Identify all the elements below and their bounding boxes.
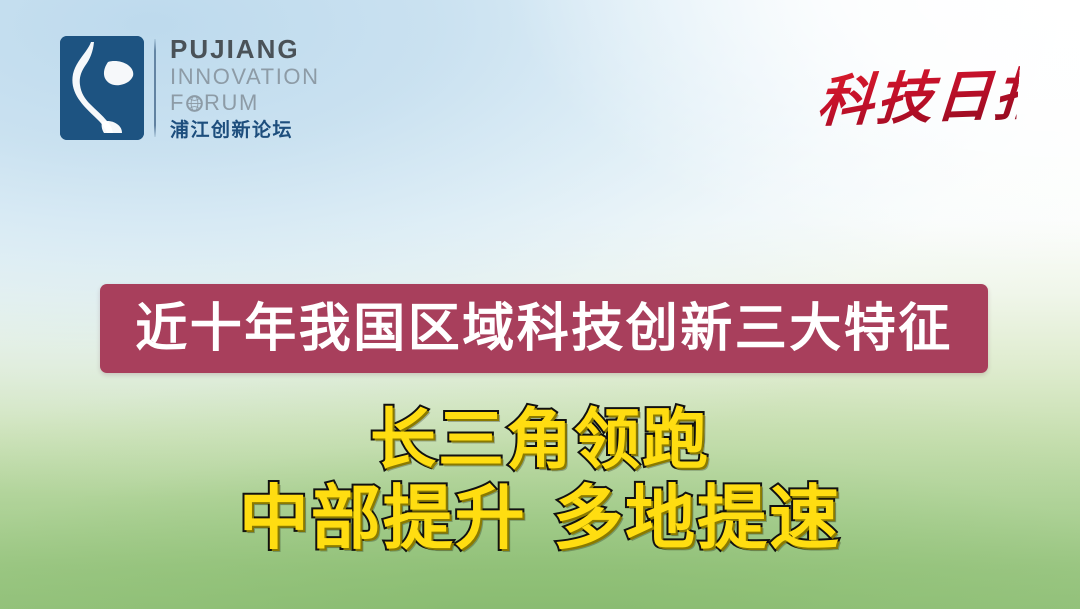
logo-line-innovation: INNOVATION [170, 64, 320, 89]
pujiang-logo-wordmark: PUJIANG INNOVATION F RUM 浦江创新论坛 [170, 36, 320, 140]
logo-line-pujiang: PUJIANG [170, 36, 320, 64]
headline-banner: 近十年我国区域科技创新三大特征 [100, 284, 988, 373]
logo-forum-suffix: RUM [204, 90, 259, 115]
logo-forum-prefix: F [170, 90, 185, 115]
logo-line-chinese: 浦江创新论坛 [170, 119, 320, 142]
logo-line-forum: F RUM [170, 90, 320, 115]
headline-text: 近十年我国区域科技创新三大特征 [135, 303, 953, 355]
logo-divider [154, 39, 156, 137]
subheadline-line-2: 中部提升 多地提速 [0, 481, 1080, 557]
pujiang-logo-mark-icon [60, 36, 144, 140]
poster-canvas: PUJIANG INNOVATION F RUM 浦江创新论坛 科技 [0, 0, 1080, 609]
subheadline-line-1: 长三角领跑 [0, 404, 1080, 475]
pujiang-innovation-forum-logo: PUJIANG INNOVATION F RUM 浦江创新论坛 [60, 36, 320, 140]
stdaily-masthead-text: 科技日报 [814, 52, 1021, 145]
subheadline-block: 长三角领跑 中部提升 多地提速 [0, 404, 1080, 557]
science-technology-daily-masthead: 科技日报 [818, 52, 1018, 138]
globe-icon [186, 95, 203, 112]
